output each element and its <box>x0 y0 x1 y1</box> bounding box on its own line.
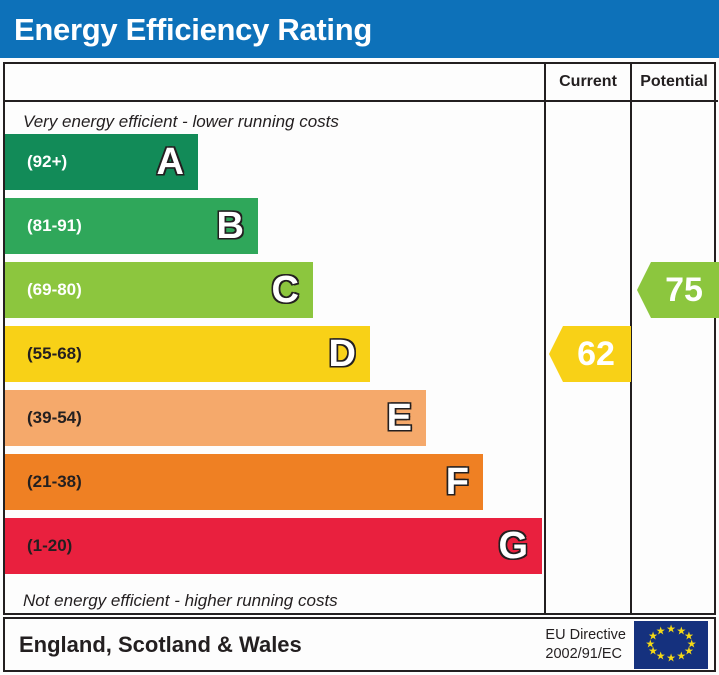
eu-flag-icon: ★★★★★★★★★★★★ <box>634 621 708 669</box>
eu-flag-star-icon: ★ <box>656 627 666 638</box>
rating-bands: (92+)A(81-91)B(69-80)C(55-68)D(39-54)E(2… <box>5 134 542 589</box>
eu-flag-star-icon: ★ <box>676 651 686 662</box>
eu-directive-line1: EU Directive <box>545 626 626 644</box>
rating-marker-current: 62 <box>549 326 631 382</box>
chart-footer: England, Scotland & Wales EU Directive 2… <box>3 617 716 672</box>
rating-marker-potential: 75 <box>637 262 719 318</box>
chart-body: Current Potential Very energy efficient … <box>3 62 716 615</box>
band-range-e: (39-54) <box>5 408 82 428</box>
column-divider-current <box>544 64 546 613</box>
eu-directive-text: EU Directive 2002/91/EC <box>545 626 626 662</box>
caption-inefficient: Not energy efficient - higher running co… <box>23 591 338 611</box>
page-title: Energy Efficiency Rating <box>0 14 372 45</box>
eu-flag-star-icon: ★ <box>666 653 676 664</box>
band-letter-d: D <box>329 335 356 373</box>
rating-value-current: 62 <box>565 337 615 371</box>
band-a: (92+)A <box>5 134 198 190</box>
band-range-a: (92+) <box>5 152 67 172</box>
column-header-current: Current <box>546 64 630 100</box>
region-label: England, Scotland & Wales <box>5 632 302 658</box>
directive-block: EU Directive 2002/91/EC ★★★★★★★★★★★★ <box>545 619 708 670</box>
band-f: (21-38)F <box>5 454 483 510</box>
band-letter-g: G <box>498 527 528 565</box>
caption-efficient: Very energy efficient - lower running co… <box>23 112 339 132</box>
band-letter-c: C <box>272 271 299 309</box>
band-letter-b: B <box>217 207 244 245</box>
eu-directive-line2: 2002/91/EC <box>545 645 626 663</box>
eu-flag-star-icon: ★ <box>666 625 676 636</box>
band-c: (69-80)C <box>5 262 313 318</box>
chart-header: Energy Efficiency Rating <box>0 0 719 58</box>
band-d: (55-68)D <box>5 326 370 382</box>
epc-energy-efficiency-chart: Energy Efficiency Rating Current Potenti… <box>0 0 719 675</box>
band-letter-f: F <box>446 463 469 501</box>
column-header-potential: Potential <box>632 64 716 100</box>
band-range-f: (21-38) <box>5 472 82 492</box>
band-range-c: (69-80) <box>5 280 82 300</box>
header-row-divider <box>5 100 718 102</box>
band-b: (81-91)B <box>5 198 258 254</box>
band-range-b: (81-91) <box>5 216 82 236</box>
rating-value-potential: 75 <box>653 273 703 307</box>
band-range-g: (1-20) <box>5 536 72 556</box>
band-e: (39-54)E <box>5 390 426 446</box>
band-letter-e: E <box>387 399 412 437</box>
band-letter-a: A <box>157 143 184 181</box>
band-g: (1-20)G <box>5 518 542 574</box>
band-range-d: (55-68) <box>5 344 82 364</box>
